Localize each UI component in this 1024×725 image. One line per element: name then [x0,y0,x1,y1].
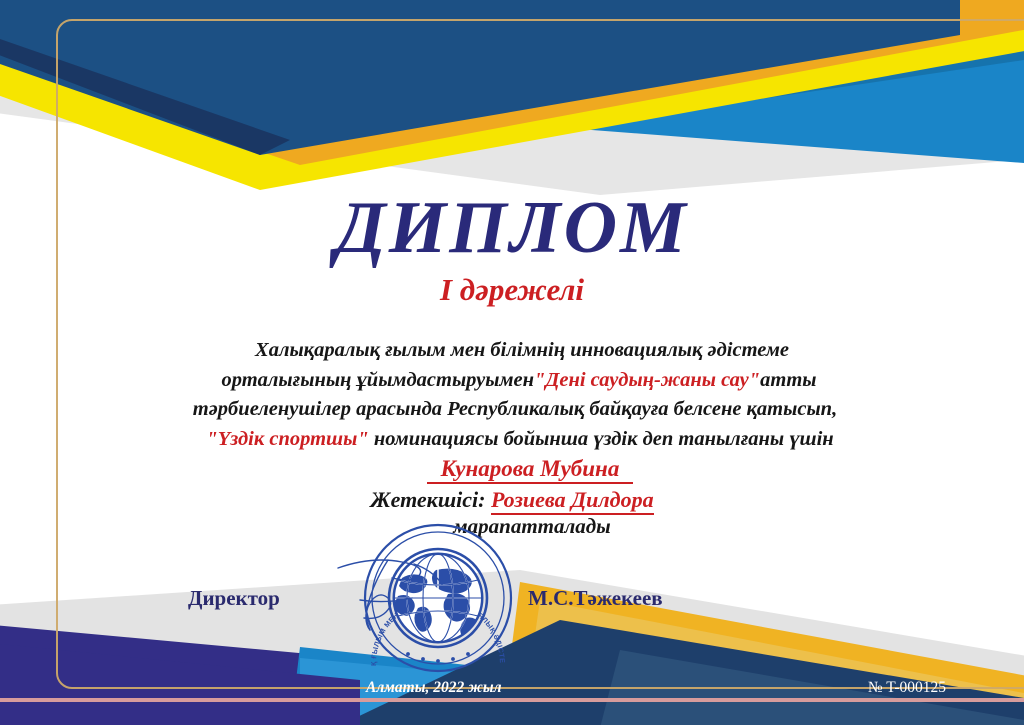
handwritten-signature [330,552,510,642]
director-name: М.С.Тәжекеев [528,586,663,611]
citation-line-1: Халықаралық ғылым мен білімнің инновация… [90,336,940,366]
citation-line-2: орталығының ұйымдастыруымен"Дені саудың-… [90,366,940,396]
mentor-label: Жетекшісі: [370,487,485,512]
citation-line-4: "Үздік спортшы" номинациясы бойынша үзді… [90,425,940,455]
citation-line-2-text-b: атты [760,369,816,391]
citation-line-3: тәрбиеленушілер арасында Республикалық б… [90,395,940,425]
citation-line-4-rest: номинациясы бойынша үздік деп танылғаны … [369,428,834,450]
footer-place-date: Алматы, 2022 жыл [366,679,502,697]
awardee-row: Кунарова Мубина [0,456,1024,482]
awardee-name: Кунарова Мубина [427,456,634,484]
citation-line-2-text-a: орталығының ұйымдастыруымен [221,369,534,391]
footer-serial-number: № T-000125 [868,679,946,697]
mentor-row: Жетекшісі: Розиева Дилдора [0,487,1024,513]
mentor-name: Розиева Дилдора [491,487,654,515]
certificate-page: ДИПЛОМ I дәрежелі Халықаралық ғылым мен … [0,0,1024,725]
director-role-label: Директор [188,586,280,611]
stamp-stars [406,652,470,663]
degree-label: I дәрежелі [0,272,1024,308]
competition-title-quote: "Дені саудың-жаны сау" [534,369,760,391]
nomination-quote: "Үздік спортшы" [206,428,368,450]
citation-body: Халықаралық ғылым мен білімнің инновация… [90,336,940,454]
page-title: ДИПЛОМ [0,186,1024,271]
